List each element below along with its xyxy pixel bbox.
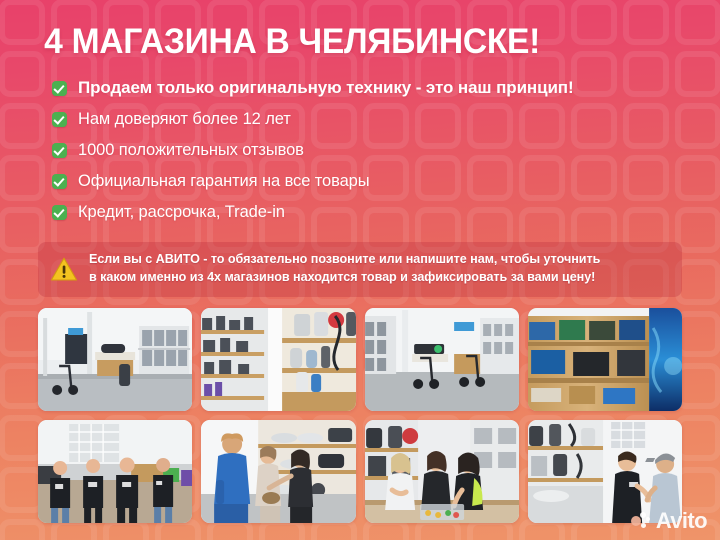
avito-notice-banner: Если вы с АВИТО - то обязательно позвони… <box>38 242 682 297</box>
promo-poster: 4 МАГАЗИНА В ЧЕЛЯБИНСКЕ! Продаем только … <box>0 0 720 540</box>
gallery-photo[interactable] <box>38 420 192 523</box>
list-item: Официальная гарантия на все товары <box>52 166 720 197</box>
benefit-label: Нам доверяют более 12 лет <box>78 110 291 129</box>
notice-line-2: в каком именно из 4х магазинов находится… <box>89 269 600 287</box>
benefit-label: Кредит, рассрочка, Trade-in <box>78 203 285 222</box>
list-item: Нам доверяют более 12 лет <box>52 104 720 135</box>
list-item: Продаем только оригинальную технику - эт… <box>52 73 720 104</box>
check-icon <box>52 205 67 220</box>
check-icon <box>52 174 67 189</box>
list-item: Кредит, рассрочка, Trade-in <box>52 197 720 228</box>
avito-label: Avito <box>656 510 707 532</box>
avito-logo-icon <box>631 511 651 531</box>
notice-text: Если вы с АВИТО - то обязательно позвони… <box>89 251 600 287</box>
gallery-photo[interactable] <box>365 420 519 523</box>
gallery-photo[interactable] <box>365 308 519 411</box>
benefit-label: 1000 положительных отзывов <box>78 141 304 160</box>
photo-gallery <box>0 308 720 523</box>
poster-content: 4 МАГАЗИНА В ЧЕЛЯБИНСКЕ! Продаем только … <box>0 0 720 523</box>
check-icon <box>52 112 67 127</box>
benefit-label: Официальная гарантия на все товары <box>78 172 370 191</box>
list-item: 1000 положительных отзывов <box>52 135 720 166</box>
benefit-label: Продаем только оригинальную технику - эт… <box>78 78 574 98</box>
warning-triangle-icon <box>50 255 78 283</box>
gallery-photo[interactable] <box>201 420 355 523</box>
check-icon <box>52 81 67 96</box>
gallery-photo[interactable] <box>201 308 355 411</box>
check-icon <box>52 143 67 158</box>
gallery-photo[interactable] <box>528 308 682 411</box>
avito-watermark: Avito <box>631 510 707 532</box>
benefits-list: Продаем только оригинальную технику - эт… <box>0 61 720 228</box>
page-title: 4 МАГАЗИНА В ЧЕЛЯБИНСКЕ! <box>0 0 691 61</box>
notice-line-1: Если вы с АВИТО - то обязательно позвони… <box>89 251 600 269</box>
gallery-photo[interactable] <box>38 308 192 411</box>
